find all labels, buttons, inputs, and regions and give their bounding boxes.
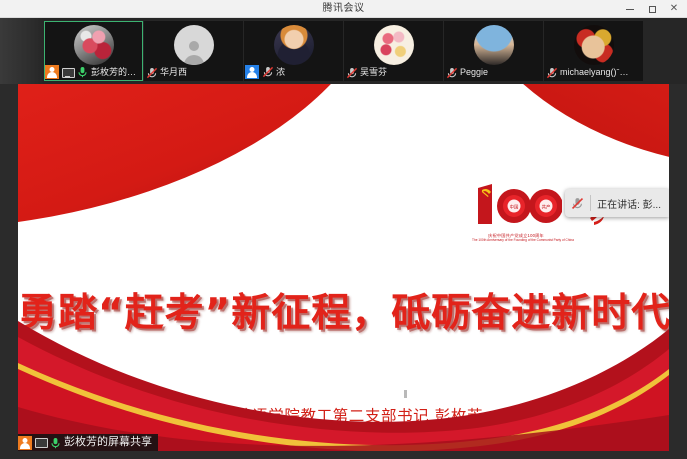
microphone-on-icon [49,436,62,449]
participant-tile[interactable]: michaelyang()ˉ东... [544,21,643,81]
participant-label-row: 彭枚芳的屏... [45,64,142,80]
screen-share-icon [34,436,47,449]
participant-name: 华月西 [160,66,187,79]
tencent-meeting-window: 腾讯会议 ✕ 彭枚芳的屏... [0,0,687,459]
screen-share-icon [61,66,74,79]
participant-tile[interactable]: 浓 [244,21,343,81]
participant-name: Peggie [460,66,488,79]
decoration-wave-top-right [430,84,669,167]
maximize-icon [649,6,656,13]
logo-100-graphic: 中国 共产 [470,182,562,226]
microphone-muted-icon [445,66,458,79]
minimize-icon [626,9,634,10]
avatar [374,25,414,65]
close-button[interactable]: ✕ [663,0,685,18]
participant-name: 彭枚芳的屏... [91,66,139,79]
avatar [474,25,514,65]
avatar [174,25,214,65]
close-icon: ✕ [670,4,678,14]
avatar [74,25,114,65]
host-icon [245,65,259,79]
screen-share-label: 彭枚芳的屏幕共享 [64,435,152,450]
decoration-wave-top-left [18,84,409,225]
host-icon [45,65,59,79]
minimize-button[interactable] [619,0,641,18]
participant-name: 吴雪芬 [360,66,387,79]
logo-caption: 庆祝中国共产党成立100周年 The 100th Anniversary of … [472,233,560,242]
microphone-muted-icon [571,197,584,210]
logo-mark: 中国 共产 [470,182,562,226]
participant-label-row: 华月西 [145,65,190,80]
svg-text:共产: 共产 [542,203,551,210]
microphone-muted-icon [345,66,358,79]
window-controls: ✕ [619,0,685,18]
shared-screen-area: 中国 共产 庆祝中国共产党成立100周年 The 100th Anniversa… [0,84,687,459]
slide-canvas: 中国 共产 庆祝中国共产党成立100周年 The 100th Anniversa… [18,84,669,451]
decoration-ribbon-bottom [18,311,669,451]
maximize-button[interactable] [641,0,663,18]
participant-name: michaelyang()ˉ东... [560,66,630,79]
participant-filmstrip[interactable]: 彭枚芳的屏... 华月西 浓 [0,18,687,84]
participant-tile[interactable]: Peggie [444,21,543,81]
default-avatar-icon [181,41,207,65]
participant-tile[interactable]: 彭枚芳的屏... [44,21,143,81]
divider [590,195,591,211]
participant-label-row: michaelyang()ˉ东... [545,65,633,80]
participant-tile[interactable]: 吴雪芬 [344,21,443,81]
logo-caption-en: The 100th Anniversary of the Founding of… [472,238,560,242]
participant-name: 浓 [276,66,285,79]
screen-share-banner: 彭枚芳的屏幕共享 [18,434,158,451]
filmstrip-left-padding [0,18,44,84]
avatar [574,25,614,65]
avatar [274,25,314,65]
participant-label-row: 浓 [245,64,288,80]
window-title: 腾讯会议 [0,0,687,18]
participant-tile[interactable]: 华月西 [144,21,243,81]
microphone-on-icon [76,66,89,79]
shared-slide[interactable]: 中国 共产 庆祝中国共产党成立100周年 The 100th Anniversa… [18,84,669,451]
speaking-indicator-text: 正在讲话: 彭... [597,196,661,211]
microphone-muted-icon [145,66,158,79]
microphone-muted-icon [545,66,558,79]
participant-label-row: Peggie [445,65,491,80]
participant-label-row: 吴雪芬 [345,65,390,80]
cpc-centenary-logo: 中国 共产 庆祝中国共产党成立100周年 The 100th Anniversa… [470,182,562,244]
svg-text:中国: 中国 [510,203,519,210]
speaking-indicator: 正在讲话: 彭... [565,189,669,217]
microphone-muted-icon [261,66,274,79]
title-bar[interactable]: 腾讯会议 ✕ [0,0,687,18]
host-icon [18,436,32,450]
